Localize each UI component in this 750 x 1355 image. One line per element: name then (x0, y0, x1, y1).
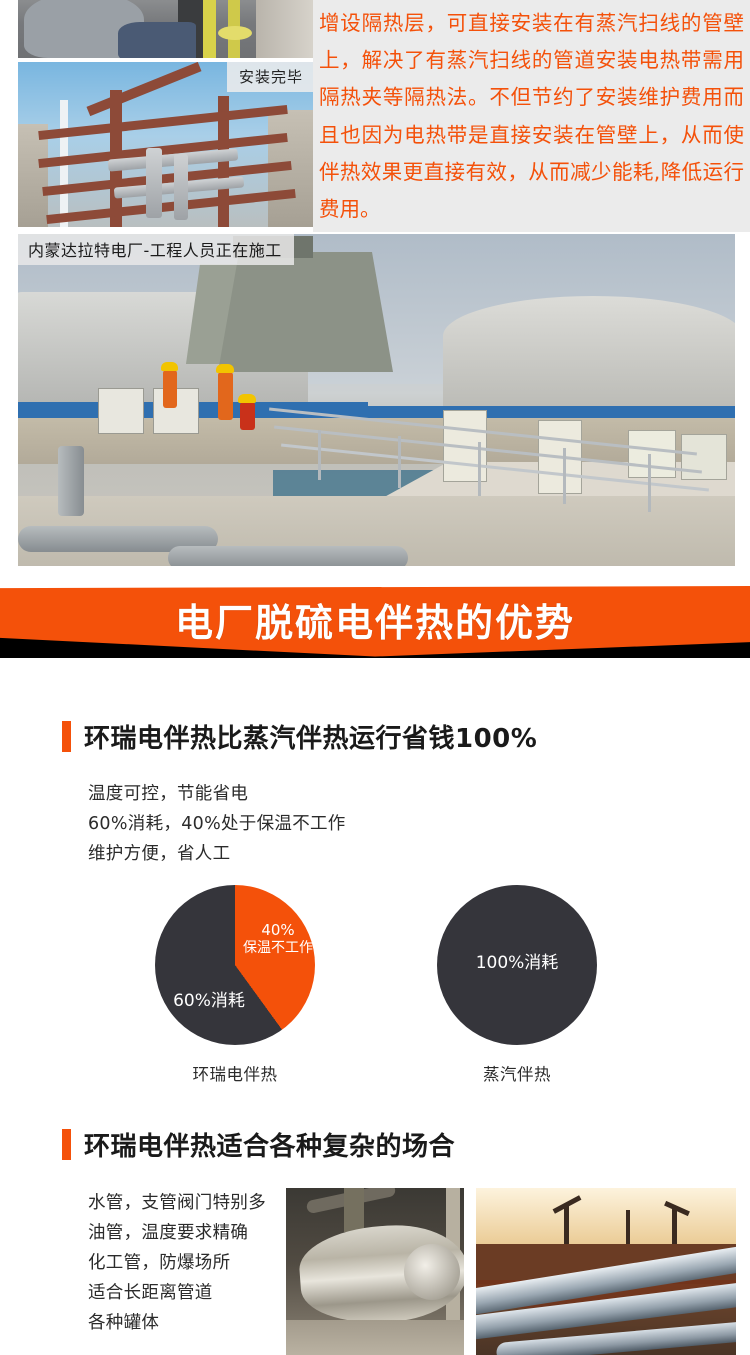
intro-paragraph-text: 增设隔热层，可直接安装在有蒸汽扫线的管壁上，解决了有蒸汽扫线的管道安装电热带需用… (319, 5, 744, 228)
pie-slice-label-40: 40% 保温不工作 (241, 921, 315, 957)
intro-paragraph-panel: 增设隔热层，可直接安装在有蒸汽扫线的管壁上，解决了有蒸汽扫线的管道安装电热带需用… (313, 0, 750, 232)
heading-accent-bar (62, 1129, 71, 1160)
comparison-charts: 40% 保温不工作 60%消耗 环瑞电伴热 100%消耗 蒸汽伴热 (0, 885, 750, 1100)
chart-caption-steam: 蒸汽伴热 (392, 1061, 642, 1085)
product-detail-page: 安装完毕 增设隔热层，可直接安装在有蒸汽扫线的管壁上，解决了有蒸汽扫线的管道安装… (0, 0, 750, 1355)
applications-bullet-list: 水管，支管阀门特别多 油管，温度要求精确 化工管，防爆场所 适合长距离管道 各种… (88, 1188, 266, 1338)
photo-insulated-vessel (286, 1188, 464, 1355)
photo-caption-install: 安装完毕 (227, 62, 313, 92)
photo-caption-power-plant: 内蒙达拉特电厂-工程人员正在施工 (18, 234, 294, 265)
banner-spacer (0, 658, 750, 662)
section-heading-applications-text: 环瑞电伴热适合各种复杂的场合 (84, 1126, 455, 1163)
photo-worker-installing (18, 0, 313, 58)
banner-title: 电厂脱硫电伴热的优势 (0, 586, 750, 658)
application-photos (286, 1188, 736, 1355)
savings-bullet-list: 温度可控，节能省电 60%消耗，40%处于保温不工作 维护方便，省人工 (88, 779, 346, 869)
list-item: 温度可控，节能省电 (88, 779, 346, 809)
section-heading-savings: 环瑞电伴热比蒸汽伴热运行省钱100% (62, 718, 537, 755)
pie-slice-label-100: 100%消耗 (467, 953, 567, 974)
photo-power-plant-site: 内蒙达拉特电厂-工程人员正在施工 (18, 234, 735, 566)
pie-label-40-text: 保温不工作 (241, 940, 315, 958)
heading-accent-bar (62, 721, 71, 752)
list-item: 油管，温度要求精确 (88, 1218, 266, 1248)
chart-electric-tracing: 40% 保温不工作 60%消耗 环瑞电伴热 (110, 885, 360, 1085)
pie-label-40-value: 40% (241, 921, 315, 940)
pie-slice-label-60: 60%消耗 (163, 991, 255, 1012)
list-item: 适合长距离管道 (88, 1278, 266, 1308)
chart-steam-tracing: 100%消耗 蒸汽伴热 (392, 885, 642, 1085)
pie-chart-steam: 100%消耗 (437, 885, 597, 1045)
chart-caption-electric: 环瑞电伴热 (110, 1061, 360, 1085)
list-item: 60%消耗，40%处于保温不工作 (88, 809, 346, 839)
list-item: 化工管，防爆场所 (88, 1248, 266, 1278)
list-item: 维护方便，省人工 (88, 839, 346, 869)
pie-chart-electric: 40% 保温不工作 60%消耗 (155, 885, 315, 1045)
list-item: 水管，支管阀门特别多 (88, 1188, 266, 1218)
section-heading-applications: 环瑞电伴热适合各种复杂的场合 (62, 1126, 455, 1163)
top-section: 安装完毕 增设隔热层，可直接安装在有蒸汽扫线的管壁上，解决了有蒸汽扫线的管道安装… (0, 0, 750, 232)
section-heading-savings-text: 环瑞电伴热比蒸汽伴热运行省钱100% (84, 718, 537, 755)
section-banner: 电厂脱硫电伴热的优势 (0, 586, 750, 658)
photo-installed-pipe-rack: 安装完毕 (18, 62, 313, 227)
list-item: 各种罐体 (88, 1308, 266, 1338)
photo-long-pipeline (476, 1188, 736, 1355)
